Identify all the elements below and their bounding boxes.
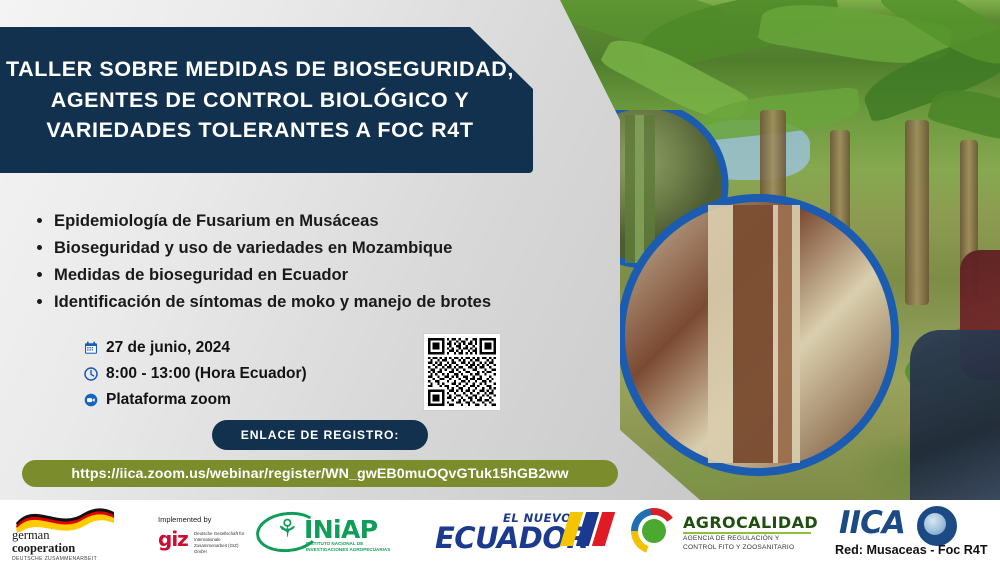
webinar-poster: TALLER SOBRE MEDIDAS DE BIOSEGURIDAD, AG… <box>0 0 1000 562</box>
page-title: TALLER SOBRE MEDIDAS DE BIOSEGURIDAD, AG… <box>0 27 520 173</box>
ecuador-logo: EL NUEVO ECUADOR <box>425 503 625 559</box>
calendar-icon <box>84 341 106 355</box>
german-cooperation-line3: DEUTSCHE ZUSAMMENARBEIT <box>12 557 97 562</box>
title-line-2: AGENTES DE CONTROL BIOLÓGICO Y <box>51 85 470 116</box>
iniap-subtitle: INSTITUTO NACIONAL DE INVESTIGACIONES AG… <box>306 541 390 554</box>
agrocalidad-subtitle-line1: AGENCIA DE REGULACIÓN Y <box>683 535 779 542</box>
iniap-subtitle-line2: INVESTIGACIONES AGROPECUARIAS <box>306 547 390 553</box>
list-item: Bioseguridad y uso de variedades en Moza… <box>54 234 574 261</box>
topics-list: Epidemiología de Fusarium en Musáceas Bi… <box>34 207 574 315</box>
iica-logo: IICA Red: Musaceas - Foc R4T <box>835 503 1000 559</box>
registration-url[interactable]: https://iica.zoom.us/webinar/register/WN… <box>22 460 618 487</box>
iica-wordmark: IICA <box>839 505 905 541</box>
iniap-logo: ⚘ INiAP INSTITUTO NACIONAL DE INVESTIGAC… <box>250 503 425 559</box>
detail-time-text: 8:00 - 13:00 (Hora Ecuador) <box>106 365 307 383</box>
video-camera-icon <box>84 393 106 407</box>
clock-icon <box>84 367 106 381</box>
detail-date-row: 27 de junio, 2024 <box>84 336 307 359</box>
iica-seal-icon <box>917 506 957 546</box>
giz-full-name: Deutsche Gesellschaft für Internationale… <box>194 531 250 555</box>
title-line-3: VARIEDADES TOLERANTES A FOC R4T <box>46 115 473 146</box>
detail-platform-text: Plataforma zoom <box>106 391 231 409</box>
german-cooperation-line2: cooperation <box>12 542 97 555</box>
list-item: Epidemiología de Fusarium en Musáceas <box>54 207 574 234</box>
detail-time-row: 8:00 - 13:00 (Hora Ecuador) <box>84 362 307 385</box>
sponsor-logos-bar: german cooperation DEUTSCHE ZUSAMMENARBE… <box>0 500 1000 562</box>
iniap-emblem-icon: ⚘ <box>276 513 293 545</box>
qr-code[interactable] <box>423 333 501 411</box>
register-link-button[interactable]: ENLACE DE REGISTRO: <box>212 420 428 450</box>
agrocalidad-wordmark: AGROCALIDAD <box>683 513 818 532</box>
giz-implemented-by: Implemented by <box>158 515 211 524</box>
german-cooperation-logo: german cooperation DEUTSCHE ZUSAMMENARBE… <box>0 503 150 559</box>
title-line-1: TALLER SOBRE MEDIDAS DE BIOSEGURIDAD, <box>6 54 514 85</box>
list-item: Identificación de síntomas de moko y man… <box>54 288 574 315</box>
iniap-wordmark: INiAP <box>304 515 377 544</box>
agrocalidad-subtitle-line2: CONTROL FITO Y ZOOSANITARIO <box>683 544 794 551</box>
giz-wordmark: giz <box>158 527 188 551</box>
detail-date-text: 27 de junio, 2024 <box>106 339 230 357</box>
german-cooperation-line1: german <box>12 529 97 542</box>
list-item: Medidas de bioseguridad en Ecuador <box>54 261 574 288</box>
event-details: 27 de junio, 2024 8:00 - 13:00 (Hora Ecu… <box>84 336 307 414</box>
iica-network-label: Red: Musaceas - Foc R4T <box>835 543 988 557</box>
giz-logo: Implemented by giz Deutsche Gesellschaft… <box>150 503 250 559</box>
agrocalidad-underline <box>683 532 811 534</box>
agrocalidad-logo: AGROCALIDAD AGENCIA DE REGULACIÓN Y CONT… <box>625 503 835 559</box>
agrocalidad-emblem-icon <box>631 508 677 554</box>
detail-platform-row: Plataforma zoom <box>84 388 307 411</box>
